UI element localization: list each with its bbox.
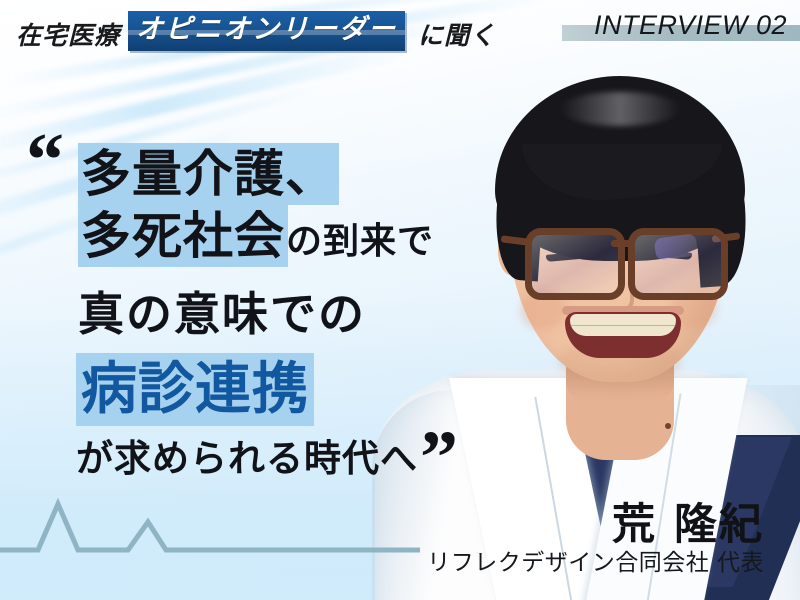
smiling-mouth [565, 312, 681, 358]
quote-close-mark: ” [420, 420, 458, 496]
quote-line-3: 真の意味での [78, 278, 366, 344]
quote-line-4-highlight: 病診連携 [80, 357, 310, 422]
header: 在宅医療 オピニオンリーダー に聞く INTERVIEW 02 [0, 0, 800, 64]
glasses-lens-left [525, 228, 625, 300]
quote-line-2-plain: の到来で [286, 221, 434, 262]
quote-line-2: 多死社会の到来で [80, 196, 434, 268]
teeth-gap-line [570, 325, 676, 326]
interview-label: INTERVIEW 02 [594, 10, 787, 41]
opinion-leader-logo: オピニオンリーダー [128, 8, 405, 54]
quote-open-mark: “ [26, 122, 64, 198]
opinion-leader-logo-text: オピニオンリーダー [128, 11, 405, 50]
quote-line-2-highlight: 多死社会 [80, 207, 286, 265]
mole [665, 423, 671, 429]
quote-line-5: が求められる時代へ [76, 428, 418, 482]
person-role: リフレクデザイン合同会社 代表 [427, 543, 764, 577]
header-prefix-text: 在宅医療 [16, 16, 120, 52]
quote-line-1-highlight: 多量介護、 [80, 145, 337, 203]
heartbeat-line-icon [0, 488, 420, 578]
glasses-bridge [611, 240, 631, 247]
quote-line-4: 病診連携 [80, 344, 310, 425]
hair-sheen [560, 92, 680, 126]
header-suffix-text: に聞く [418, 16, 496, 52]
interview-banner: 在宅医療 オピニオンリーダー に聞く INTERVIEW 02 “ 多量介護、 … [0, 0, 800, 600]
